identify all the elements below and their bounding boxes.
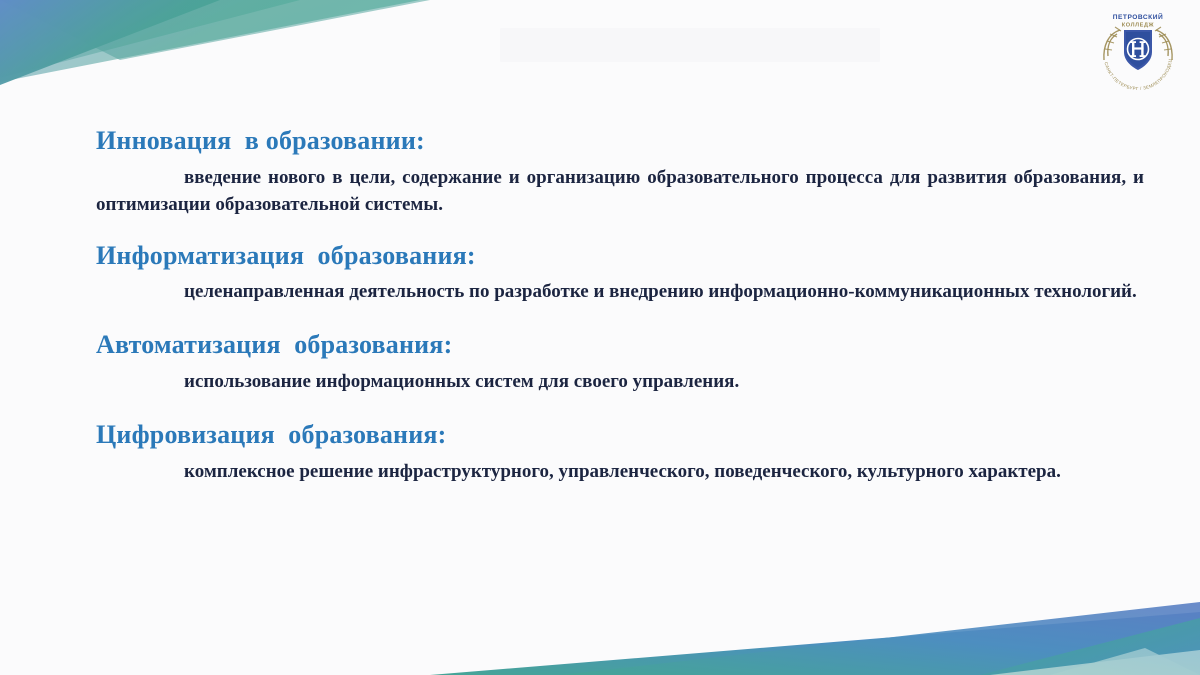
logo-title-line-1: ПЕТРОВСКИЙ: [1113, 12, 1163, 21]
term-heading-innovation: Инновация в образовании:: [96, 126, 1144, 157]
presentation-slide: САНКТ-ПЕТЕРБУРГ / ЗЕМЛЕПРОХОДЕЦ ПЕТРОВСК…: [0, 0, 1200, 675]
definition-block-innovation: Инновация в образовании: введение нового…: [96, 126, 1144, 219]
definition-text-innovation: введение нового в цели, содержание и орг…: [96, 165, 1144, 219]
slide-title-placeholder: [500, 28, 880, 62]
definition-block-informatization: Информатизация образования: целенаправле…: [96, 241, 1144, 307]
definition-text-informatization: целенаправленная деятельность по разрабо…: [96, 279, 1144, 306]
petrovsky-college-logo: САНКТ-ПЕТЕРБУРГ / ЗЕМЛЕПРОХОДЕЦ ПЕТРОВСК…: [1090, 4, 1186, 90]
definition-text-automation: использование информационных систем для …: [96, 369, 1144, 396]
definition-block-automation: Автоматизация образования: использование…: [96, 330, 1144, 396]
logo-title-line-2: КОЛЛЕДЖ: [1122, 23, 1155, 29]
definition-text-digitalization: комплексное решение инфраструктурного, у…: [96, 459, 1144, 486]
term-heading-digitalization: Цифровизация образования:: [96, 420, 1144, 451]
term-heading-automation: Автоматизация образования:: [96, 330, 1144, 361]
term-heading-informatization: Информатизация образования:: [96, 241, 1144, 272]
definition-block-digitalization: Цифровизация образования: комплексное ре…: [96, 420, 1144, 486]
slide-content: Инновация в образовании: введение нового…: [96, 126, 1144, 486]
